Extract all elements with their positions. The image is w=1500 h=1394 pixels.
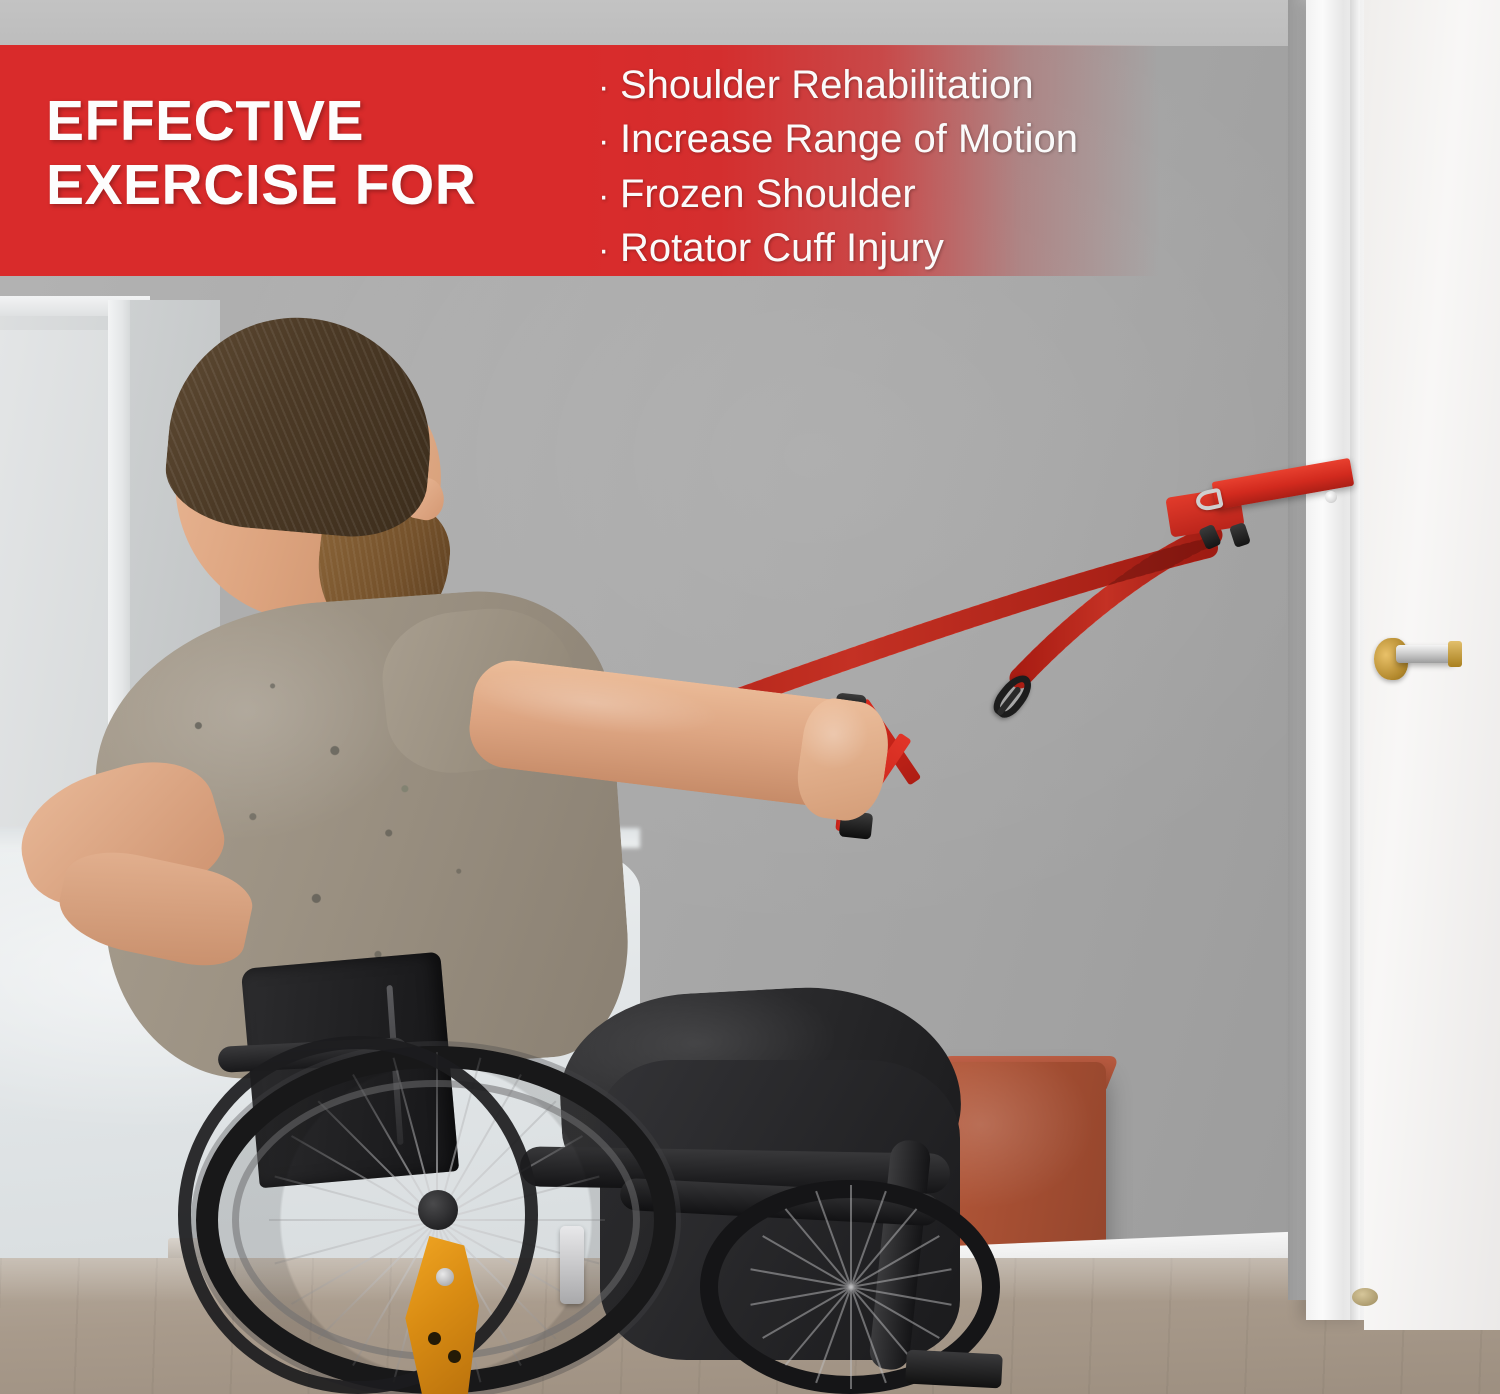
banner-headline-line-2: EXERCISE FOR bbox=[46, 154, 546, 218]
banner-headline: EFFECTIVE EXERCISE FOR bbox=[46, 90, 546, 218]
benefit-list-item: · Rotator Cuff Injury bbox=[598, 221, 1158, 275]
benefit-label: Frozen Shoulder bbox=[620, 167, 916, 221]
bullet-dot-icon: · bbox=[598, 118, 620, 164]
benefit-label: Increase Range of Motion bbox=[620, 112, 1078, 166]
bullet-dot-icon: · bbox=[598, 64, 620, 110]
benefit-list-item: · Shoulder Rehabilitation bbox=[598, 58, 1158, 112]
bullet-dot-icon: · bbox=[598, 227, 620, 273]
bullet-dot-icon: · bbox=[598, 173, 620, 219]
benefit-list-item: · Frozen Shoulder bbox=[598, 167, 1158, 221]
benefit-list-item: · Increase Range of Motion bbox=[598, 112, 1158, 166]
banner-headline-line-1: EFFECTIVE bbox=[46, 90, 546, 154]
benefit-list: · Shoulder Rehabilitation · Increase Ran… bbox=[598, 58, 1158, 276]
product-marketing-image: EFFECTIVE EXERCISE FOR · Shoulder Rehabi… bbox=[0, 0, 1500, 1394]
benefit-label: Rotator Cuff Injury bbox=[620, 221, 944, 275]
benefit-label: Shoulder Rehabilitation bbox=[620, 58, 1034, 112]
